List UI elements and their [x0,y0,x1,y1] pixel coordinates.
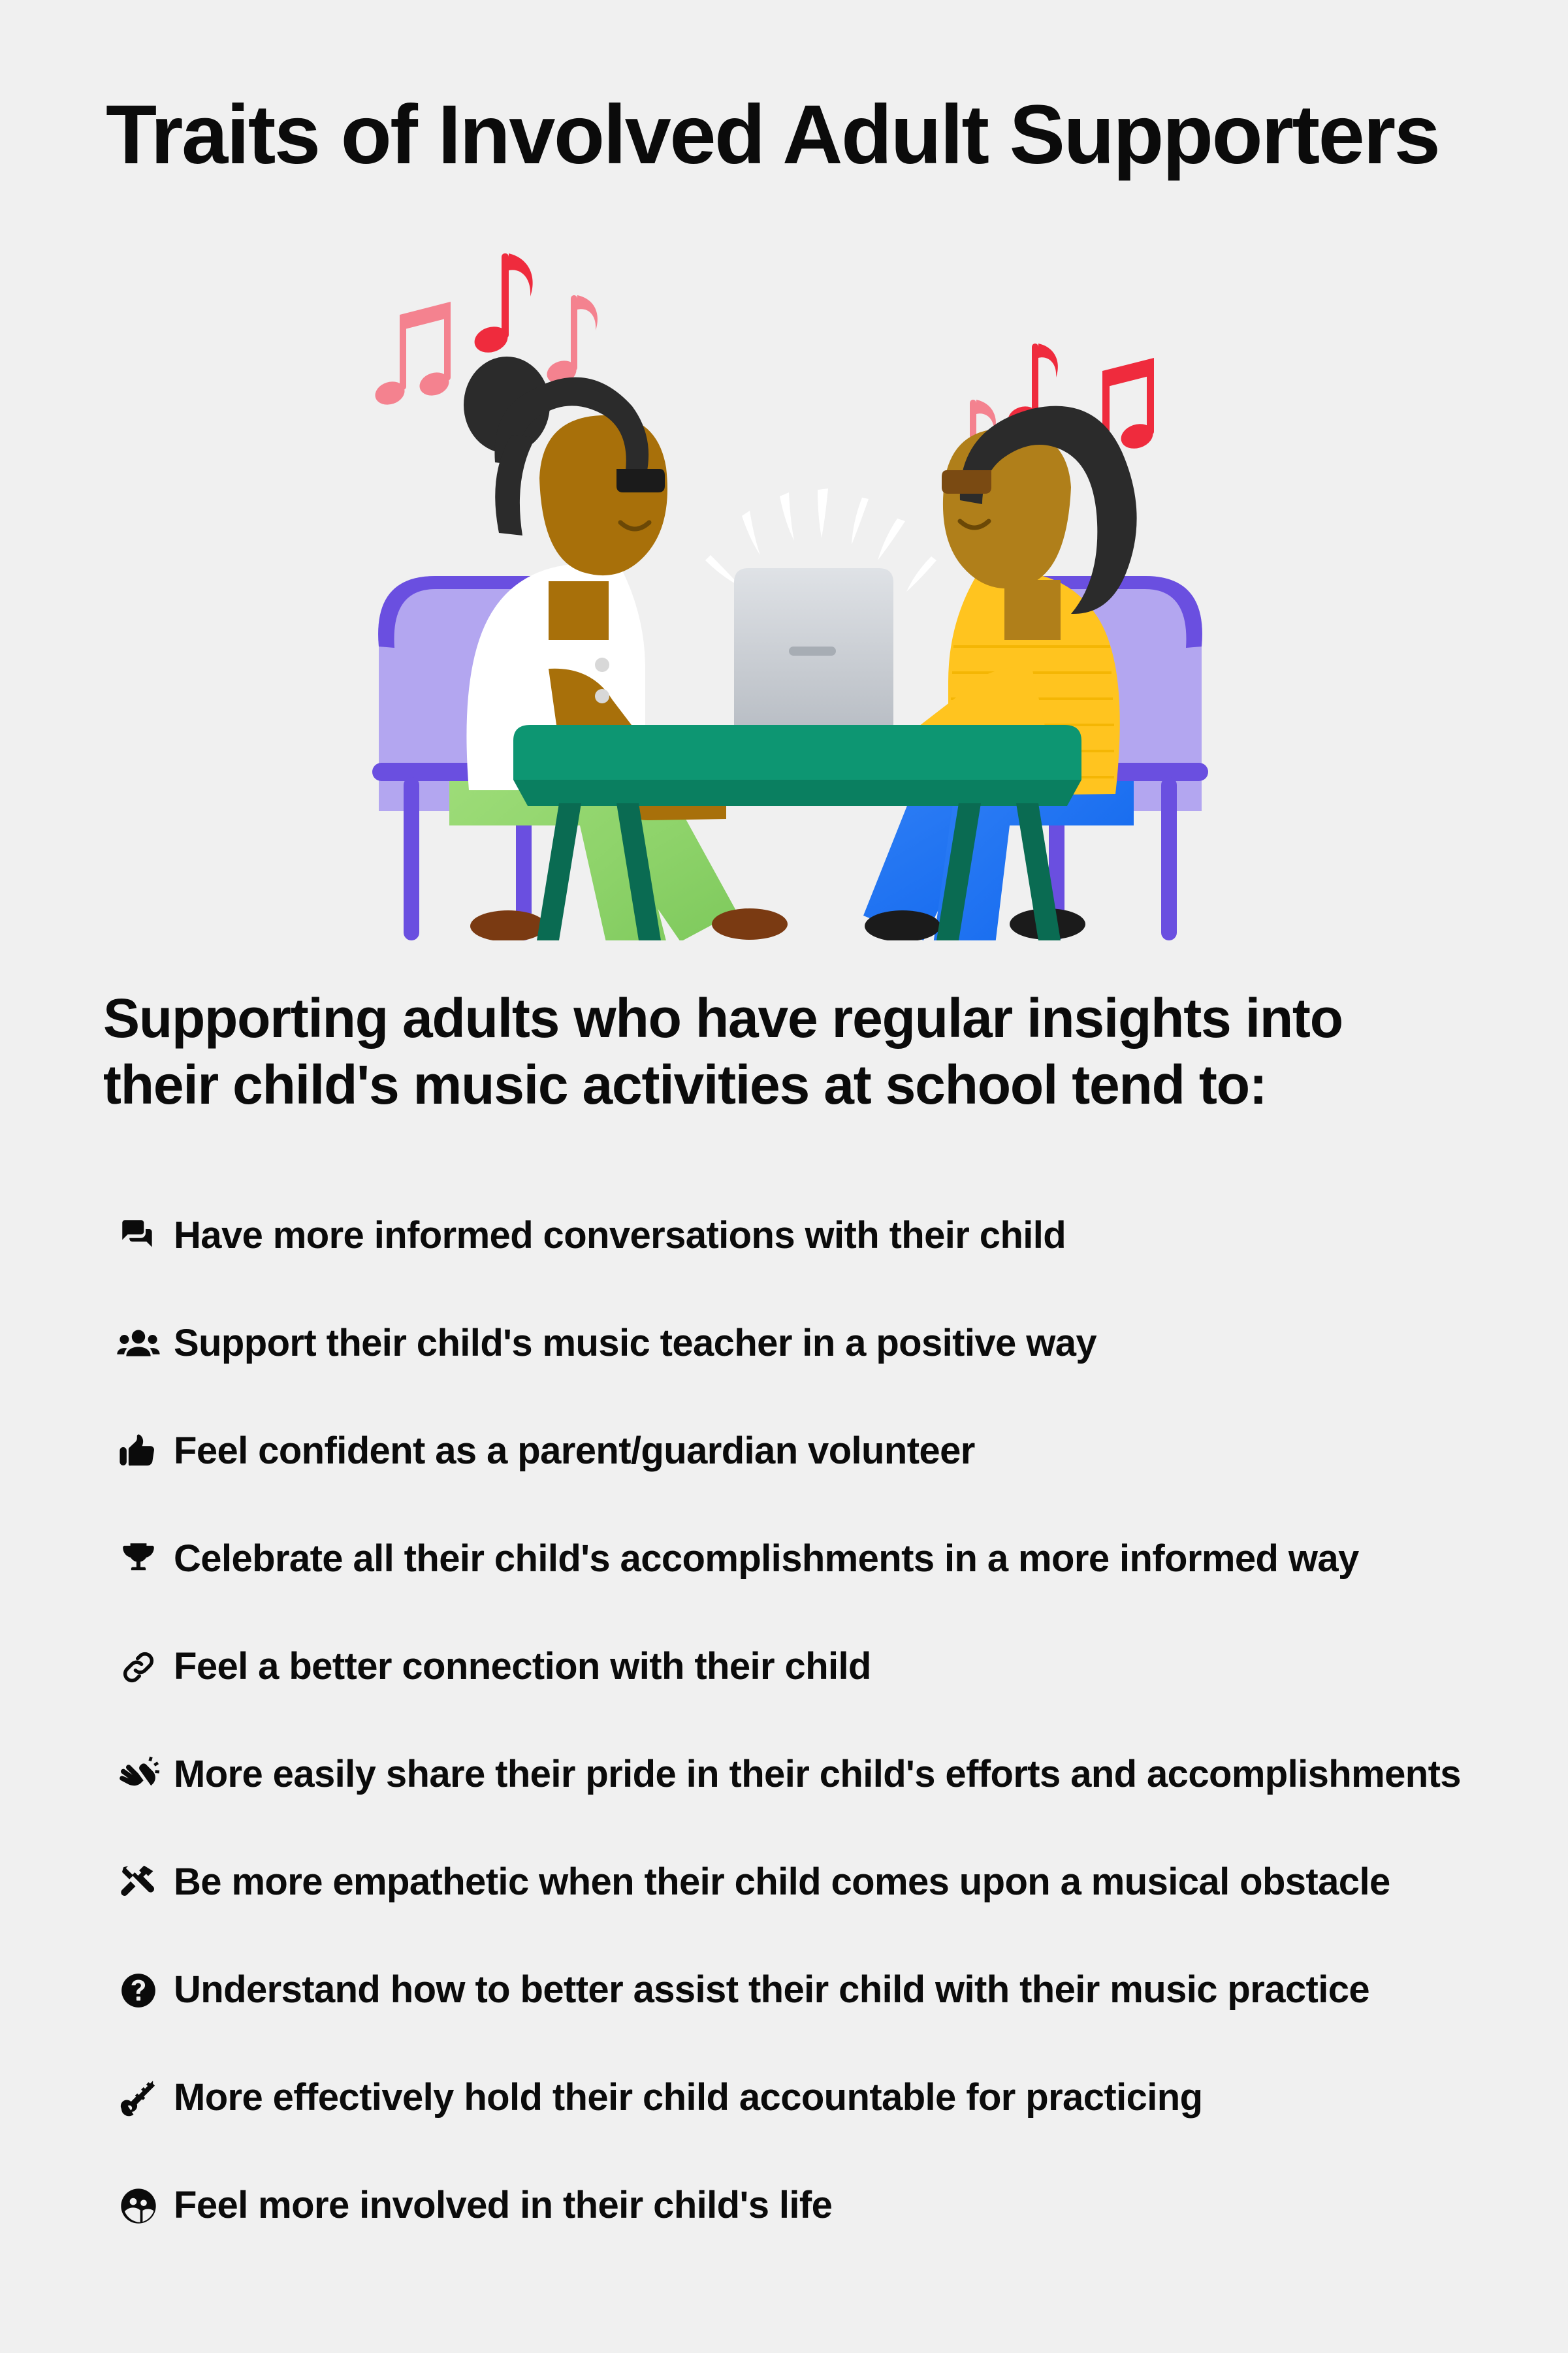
question-circle-icon [103,1965,174,2016]
list-item-label: More effectively hold their child accoun… [174,2076,1202,2120]
list-item: Support their child's music teacher in a… [103,1290,1527,1398]
subheading-line-2: their child's music activities at school… [103,1051,1481,1118]
person-right [854,406,1137,940]
list-item: Have more informed conversations with th… [103,1182,1527,1290]
subheading: Supporting adults who have regular insig… [103,985,1481,1119]
list-item: More effectively hold their child accoun… [103,2044,1527,2152]
list-item: Feel more involved in their child's life [103,2152,1527,2260]
list-item: Celebrate all their child's accomplishme… [103,1505,1527,1613]
thumbs-up-icon [103,1426,174,1477]
list-item: Feel a better connection with their chil… [103,1613,1527,1721]
traits-list: Have more informed conversations with th… [103,1182,1527,2260]
infographic-poster: Traits of Involved Adult Supporters [0,0,1568,2353]
list-item: Be more empathetic when their child come… [103,1829,1527,1936]
illustration-two-people-at-table [353,216,1228,940]
list-item-label: Understand how to better assist their ch… [174,1968,1369,2012]
people-circle-icon [103,2181,174,2232]
list-item-label: Feel a better connection with their chil… [174,1645,871,1689]
list-item-label: Feel confident as a parent/guardian volu… [174,1430,975,1473]
list-item: Understand how to better assist their ch… [103,1936,1527,2044]
link-chain-icon [103,1642,174,1693]
violin-icon [103,2073,174,2124]
trophy-icon [103,1534,174,1585]
page-title: Traits of Involved Adult Supporters [106,90,1477,180]
users-group-icon [103,1319,174,1369]
list-item: More easily share their pride in their c… [103,1721,1527,1829]
list-item-label: Support their child's music teacher in a… [174,1322,1096,1366]
subheading-line-1: Supporting adults who have regular insig… [103,985,1481,1051]
list-item-label: Celebrate all their child's accomplishme… [174,1537,1359,1581]
list-item-label: Be more empathetic when their child come… [174,1861,1390,1904]
list-item-label: Have more informed conversations with th… [174,1214,1066,1258]
comments-icon [103,1211,174,1262]
clapping-hands-icon [103,1750,174,1801]
list-item-label: More easily share their pride in their c… [174,1753,1461,1797]
hammer-wrench-icon [103,1857,174,1908]
list-item-label: Feel more involved in their child's life [174,2184,832,2228]
list-item: Feel confident as a parent/guardian volu… [103,1398,1527,1505]
